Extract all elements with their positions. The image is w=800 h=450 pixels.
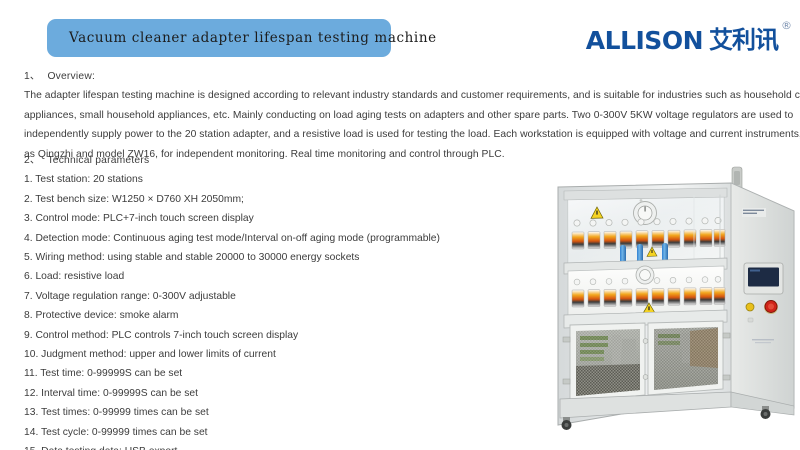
testing-machine-illustration — [524, 163, 800, 450]
spec-item: 5. Wiring method: using stable and stabl… — [24, 248, 524, 267]
brand-logo: ALLISON 艾利讯 ® — [586, 28, 792, 53]
overview-paragraph-line: The adapter lifespan testing machine is … — [24, 86, 776, 105]
technical-heading-text: Technical parameters — [47, 155, 149, 166]
indicator-lamp-icon — [746, 303, 754, 311]
spec-item: 2. Test bench size: W1250 × D760 XH 2050… — [24, 190, 524, 209]
technical-heading: 2、Technical parameters — [24, 151, 524, 170]
door-latch[interactable] — [643, 339, 648, 344]
spec-item: 13. Test times: 0-99999 times can be set — [24, 403, 524, 422]
door-hinge — [563, 337, 570, 342]
spec-item: 12. Interval time: 0-99999S can be set — [24, 384, 524, 403]
page-header: Vacuum cleaner adapter lifespan testing … — [0, 0, 800, 68]
brand-name-latin: ALLISON — [586, 28, 703, 53]
overview-heading: 1、Overview: — [24, 67, 776, 86]
spec-item: 3. Control mode: PLC+7-inch touch screen… — [24, 209, 524, 228]
spec-item: 4. Detection mode: Continuous aging test… — [24, 229, 524, 248]
overview-heading-text: Overview: — [47, 71, 95, 82]
caster-wheel — [562, 417, 572, 430]
overview-section: 1、Overview: The adapter lifespan testing… — [24, 67, 776, 164]
technical-parameters-section: 2、Technical parameters 1. Test station: … — [24, 151, 524, 450]
spec-item: 14. Test cycle: 0-99999 times can be set — [24, 423, 524, 442]
touch-screen-display[interactable] — [744, 263, 783, 294]
registered-trademark-icon: ® — [781, 19, 792, 32]
spec-item: 7. Voltage regulation range: 0-300V adju… — [24, 287, 524, 306]
caster-wheel — [761, 406, 771, 419]
spec-item: 10. Judgment method: upper and lower lim… — [24, 345, 524, 364]
overview-paragraph-line: appliances, small household appliances, … — [24, 106, 776, 125]
product-photo — [524, 163, 800, 450]
column-brand-plate — [742, 208, 766, 217]
spec-item: 1. Test station: 20 stations — [24, 170, 524, 189]
overview-heading-number: 1、 — [24, 71, 40, 82]
page-title: Vacuum cleaner adapter lifespan testing … — [69, 30, 437, 46]
spec-item: 6. Load: resistive load — [24, 267, 524, 286]
brand-name-cjk: 艾利讯 — [709, 28, 778, 52]
spec-item: 8. Protective device: smoke alarm — [24, 306, 524, 325]
door-latch[interactable] — [643, 375, 648, 380]
emergency-stop-button[interactable] — [764, 300, 778, 314]
upper-instrument-bay — [564, 188, 727, 265]
spec-item: 11. Test time: 0-99999S can be set — [24, 364, 524, 383]
spec-item: 9. Control method: PLC controls 7-inch t… — [24, 326, 524, 345]
door-hinge — [723, 333, 730, 338]
door-hinge — [563, 379, 570, 384]
page-title-banner: Vacuum cleaner adapter lifespan testing … — [47, 19, 391, 57]
technical-heading-number: 2、 — [24, 155, 40, 166]
overview-paragraph-line: independently supply power to the 20 sta… — [24, 125, 776, 144]
product-spec-page: Vacuum cleaner adapter lifespan testing … — [0, 0, 800, 450]
voltage-regulator-dial[interactable] — [636, 266, 654, 284]
key-switch-icon[interactable] — [748, 318, 753, 322]
door-hinge — [723, 375, 730, 380]
cabinet-body — [558, 183, 794, 425]
spec-item: 15. Data testing data: USB export — [24, 442, 524, 450]
